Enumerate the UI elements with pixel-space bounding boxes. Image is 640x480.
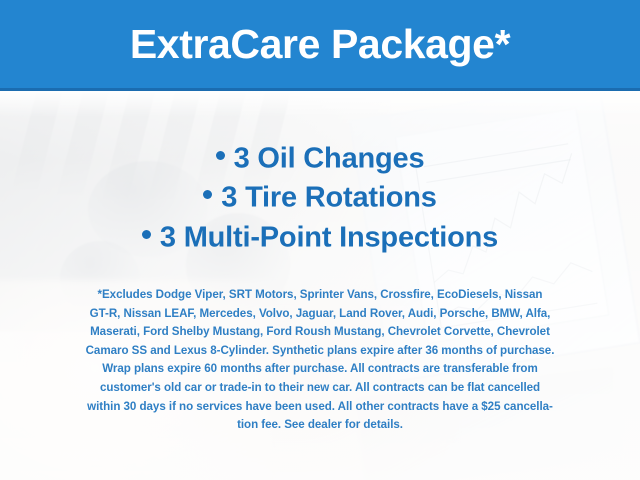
benefit-label: 3 Multi-Point Inspections <box>160 221 498 253</box>
list-item: 3 Oil Changes <box>0 138 640 177</box>
disclaimer-line: Camaro SS and Lexus 8-Cylinder. Syntheti… <box>24 342 616 361</box>
extracare-package-poster: ExtraCare Package* 3 Oil Changes 3 Tire … <box>0 0 640 480</box>
disclaimer-line: *Excludes Dodge Viper, SRT Motors, Sprin… <box>24 286 616 305</box>
disclaimer-line: customer's old car or trade-in to their … <box>24 379 616 398</box>
benefit-label: 3 Tire Rotations <box>221 182 436 214</box>
disclaimer-line: tion fee. See dealer for details. <box>24 416 616 435</box>
disclaimer-line: GT-R, Nissan LEAF, Mercedes, Volvo, Jagu… <box>24 305 616 324</box>
disclaimer-line: Maserati, Ford Shelby Mustang, Ford Rous… <box>24 323 616 342</box>
list-item: 3 Multi-Point Inspections <box>0 217 640 256</box>
benefit-label: 3 Oil Changes <box>234 142 425 174</box>
disclaimer-text: *Excludes Dodge Viper, SRT Motors, Sprin… <box>24 286 616 435</box>
disclaimer-line: Wrap plans expire 60 months after purcha… <box>24 360 616 379</box>
disclaimer-line: within 30 days if no services have been … <box>24 398 616 417</box>
header-banner-edge <box>0 88 640 91</box>
list-item: 3 Tire Rotations <box>0 177 640 216</box>
bullet-dot-icon <box>142 230 151 239</box>
page-title: ExtraCare Package* <box>0 0 640 88</box>
bullet-dot-icon <box>216 151 225 160</box>
photo-top-fade <box>0 91 640 117</box>
bullet-dot-icon <box>203 190 212 199</box>
benefits-list: 3 Oil Changes 3 Tire Rotations 3 Multi-P… <box>0 138 640 256</box>
